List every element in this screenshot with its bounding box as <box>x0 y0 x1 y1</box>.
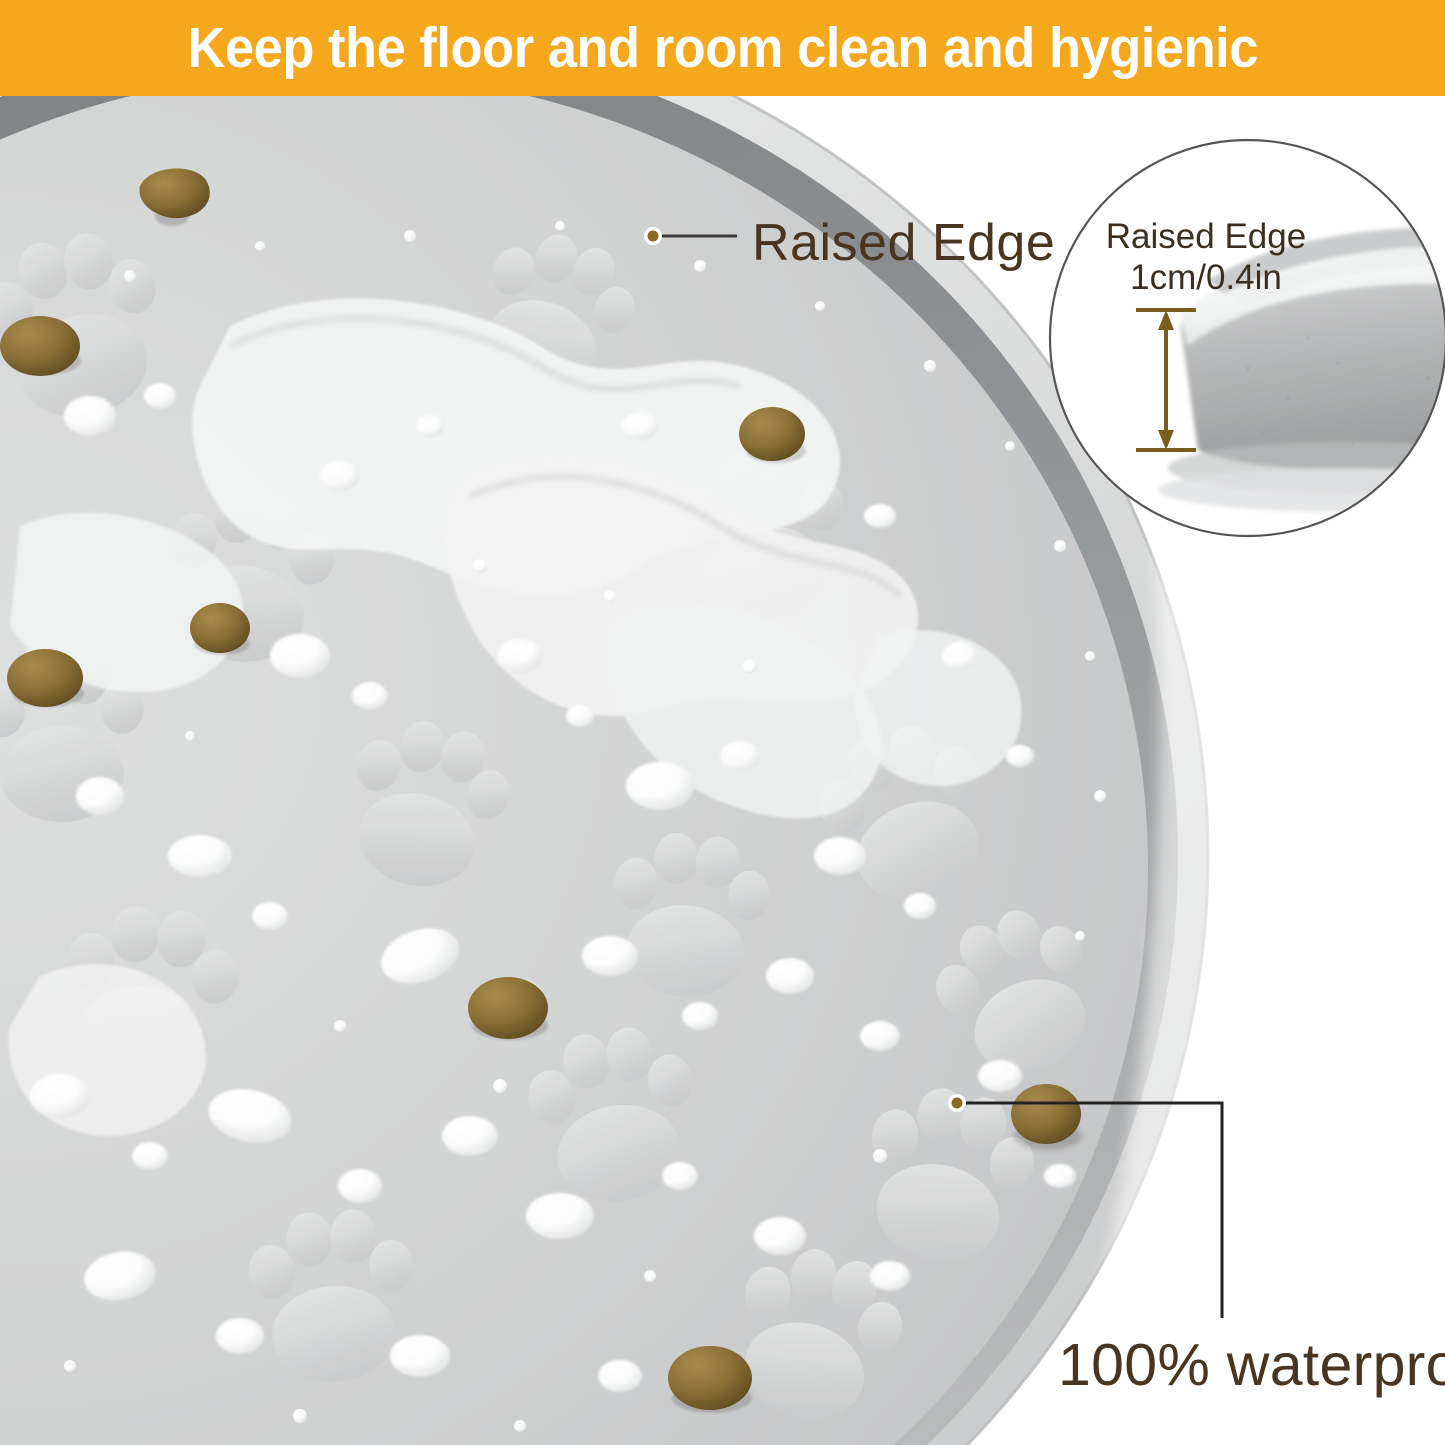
water-droplet <box>216 1318 264 1354</box>
water-droplet <box>76 777 124 815</box>
water-speck <box>1085 651 1095 661</box>
water-droplet <box>904 893 936 919</box>
water-speck <box>1005 441 1015 451</box>
water-speck <box>694 260 706 272</box>
water-speck <box>255 241 265 251</box>
header-banner-title: Keep the floor and room clean and hygien… <box>187 20 1257 77</box>
inset-label-measurement: 1cm/0.4in <box>1086 257 1326 298</box>
water-speck <box>924 360 936 372</box>
water-speck <box>493 1079 507 1093</box>
water-droplet <box>390 1335 450 1377</box>
water-droplet <box>64 396 116 436</box>
kibble <box>1011 1084 1082 1150</box>
product-infographic: Keep the floor and room clean and hygien… <box>0 0 1445 1445</box>
water-speck <box>64 1360 76 1372</box>
water-speck <box>873 1149 887 1163</box>
raised-edge-detail-inset: Raised Edge 1cm/0.4in <box>1048 138 1445 538</box>
water-speck <box>473 559 487 573</box>
kibble <box>668 1346 752 1413</box>
inset-label-group: Raised Edge 1cm/0.4in <box>1086 216 1326 299</box>
water-droplet <box>416 415 444 437</box>
water-droplet <box>870 1261 910 1291</box>
water-speck <box>743 659 757 673</box>
water-droplet <box>1006 745 1034 767</box>
water-droplet <box>30 1074 90 1118</box>
water-droplet <box>252 902 288 930</box>
inset-label-title: Raised Edge <box>1086 216 1326 257</box>
water-droplet <box>766 958 814 994</box>
water-droplet <box>582 936 638 976</box>
inset-illustration <box>1048 138 1445 538</box>
kibble <box>190 603 250 655</box>
water-droplet <box>526 1193 594 1239</box>
water-droplet <box>566 705 594 727</box>
water-droplet <box>338 1169 382 1203</box>
water-speck <box>514 1420 526 1432</box>
water-speck <box>1054 540 1066 552</box>
water-speck <box>604 590 616 602</box>
callout-label-waterproof: 100% waterproof <box>1058 1331 1445 1399</box>
water-speck <box>404 230 416 242</box>
water-droplet <box>682 1002 718 1030</box>
water-droplet <box>442 1116 498 1156</box>
water-droplet <box>270 634 330 678</box>
water-droplet <box>132 1142 168 1170</box>
water-droplet <box>626 762 694 810</box>
water-speck <box>555 221 565 231</box>
water-droplet <box>754 1217 806 1255</box>
water-droplet <box>942 642 978 670</box>
water-droplet <box>498 639 542 673</box>
water-droplet <box>814 837 866 875</box>
water-speck <box>334 1020 346 1032</box>
water-droplet <box>144 383 176 409</box>
water-droplet <box>320 461 360 491</box>
water-droplet <box>598 1360 642 1392</box>
water-droplet <box>720 741 760 771</box>
water-droplet <box>352 682 388 710</box>
water-droplet <box>864 504 896 528</box>
water-droplet <box>622 412 658 440</box>
water-speck <box>1094 790 1106 802</box>
water-speck <box>185 731 195 741</box>
water-droplet <box>1044 1164 1076 1188</box>
water-speck <box>293 1409 307 1423</box>
water-droplet <box>168 835 232 877</box>
kibble <box>468 977 548 1040</box>
header-banner: Keep the floor and room clean and hygien… <box>0 0 1445 96</box>
water-speck <box>1075 931 1085 941</box>
water-speck <box>124 270 136 282</box>
water-speck <box>644 1270 656 1282</box>
callout-label-raised-edge: Raised Edge <box>752 213 1055 273</box>
water-droplet <box>662 1162 698 1190</box>
water-droplet <box>860 1021 900 1051</box>
water-speck <box>815 301 825 311</box>
water-droplet <box>978 1060 1022 1092</box>
